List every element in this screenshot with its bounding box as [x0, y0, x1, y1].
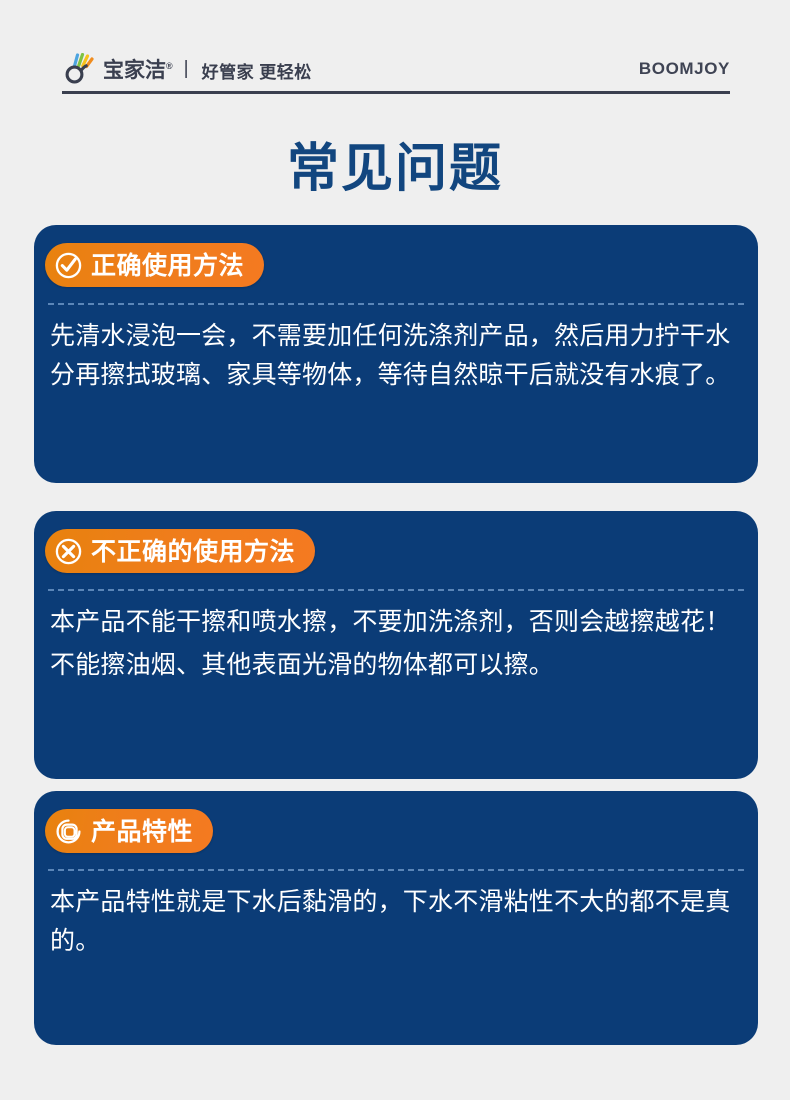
faq-card-paragraph: 本产品特性就是下水后黏滑的，下水不滑粘性不大的都不是真的。: [50, 883, 742, 961]
faq-card-paragraph: 不能擦油烟、其他表面光滑的物体都可以擦。: [50, 646, 742, 685]
faq-card-paragraph: 先清水浸泡一会，不需要加任何洗涤剂产品，然后用力拧干水分再擦拭玻璃、家具等物体，…: [50, 317, 742, 395]
faq-card-incorrect-usage: 不正确的使用方法 本产品不能干擦和喷水擦，不要加洗涤剂，否则会越擦越花！ 不能擦…: [34, 511, 758, 779]
header-divider: [62, 91, 730, 94]
brand-separator: |: [180, 58, 195, 80]
boomjoy-logo: BOOMJOY: [639, 59, 730, 79]
brand-name-text: 宝家洁: [103, 59, 166, 82]
dashed-divider: [48, 589, 744, 591]
brand-slogan: 好管家 更轻松: [202, 58, 312, 83]
faq-card-correct-usage: 正确使用方法 先清水浸泡一会，不需要加任何洗涤剂产品，然后用力拧干水分再擦拭玻璃…: [34, 225, 758, 483]
faq-card-badge: 不正确的使用方法: [45, 529, 315, 573]
faq-card-product-features: 产品特性 本产品特性就是下水后黏滑的，下水不滑粘性不大的都不是真的。: [34, 791, 758, 1045]
dashed-divider: [48, 869, 744, 871]
faq-page: 宝家洁® | 好管家 更轻松 BOOMJOY 常见问题 正确使用方法 先清水浸泡…: [0, 0, 790, 1100]
page-header: 宝家洁® | 好管家 更轻松 BOOMJOY: [62, 44, 730, 94]
brand-name: 宝家洁®: [103, 60, 173, 81]
x-circle-icon: [55, 538, 82, 565]
brand-lockup: 宝家洁® | 好管家 更轻松: [62, 53, 312, 85]
faq-card-label: 产品特性: [91, 819, 193, 844]
faq-card-badge: 正确使用方法: [45, 243, 264, 287]
baojiajie-logo-icon: [62, 53, 96, 85]
check-circle-icon: [55, 252, 82, 279]
faq-card-label: 不正确的使用方法: [91, 539, 295, 564]
faq-card-badge: 产品特性: [45, 809, 213, 853]
dashed-divider: [48, 303, 744, 305]
product-feature-icon: [55, 818, 82, 845]
registered-mark: ®: [166, 61, 173, 71]
faq-card-label: 正确使用方法: [91, 253, 244, 278]
faq-card-paragraph: 本产品不能干擦和喷水擦，不要加洗涤剂，否则会越擦越花！: [50, 603, 742, 642]
page-title: 常见问题: [0, 126, 790, 201]
